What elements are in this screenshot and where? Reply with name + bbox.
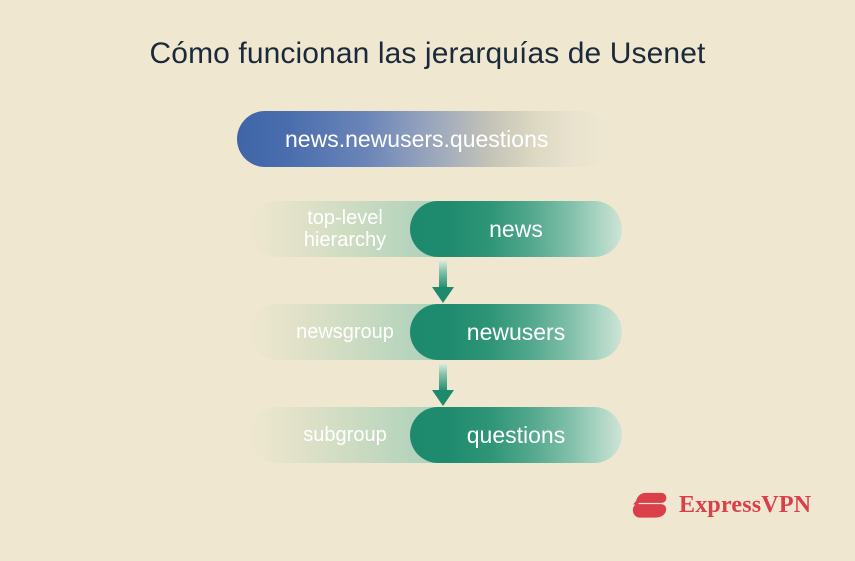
level-label-text-top-level-hierarchy: top-level hierarchy: [286, 207, 404, 252]
level-value-text-questions: questions: [467, 422, 565, 449]
level-label-text-subgroup: subgroup: [286, 424, 404, 446]
arrow-down-icon: [430, 364, 456, 408]
level-value-text-news: news: [489, 216, 543, 243]
arrow-down-icon: [430, 261, 456, 305]
level-value-pill-newusers: newusers: [410, 304, 622, 360]
brand-logo: ExpressVPN: [632, 487, 811, 523]
level-value-pill-questions: questions: [410, 407, 622, 463]
full-newsgroup-name-text: news.newusers.questions: [285, 126, 548, 153]
level-label-text-newsgroup: newsgroup: [286, 321, 404, 343]
brand-name-text: ExpressVPN: [679, 492, 811, 519]
level-value-text-newusers: newusers: [467, 319, 565, 346]
full-newsgroup-name-pill: news.newusers.questions: [237, 111, 612, 167]
expressvpn-e-logo-icon: [632, 487, 668, 523]
page-title: Cómo funcionan las jerarquías de Usenet: [0, 36, 855, 72]
level-value-pill-news: news: [410, 201, 622, 257]
usenet-hierarchy-infographic: Cómo funcionan las jerarquías de Usenet …: [0, 0, 855, 561]
